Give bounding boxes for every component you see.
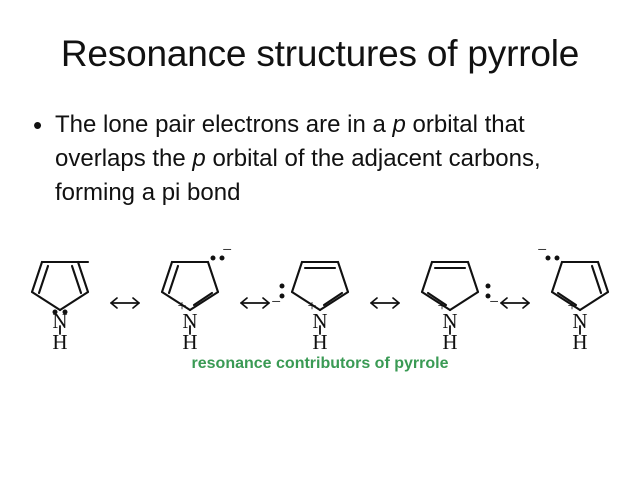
page-title: Resonance structures of pyrrole xyxy=(0,33,640,75)
atom-label-hydrogen-2: H xyxy=(182,330,197,354)
resonance-scheme: N H xyxy=(0,248,640,358)
pyrrole-ring-diagram-3: − + N H xyxy=(272,248,368,358)
resonance-arrow-3 xyxy=(368,248,402,358)
double-headed-arrow-icon-1 xyxy=(108,293,142,313)
structure-carbanion-right: − + N H xyxy=(402,248,498,358)
bullet-item: • The lone pair electrons are in a p orb… xyxy=(33,108,603,210)
resonance-arrow-1 xyxy=(108,248,142,358)
bullet-marker-icon: • xyxy=(33,108,55,142)
atom-label-hydrogen-1: H xyxy=(52,330,67,354)
structure-carbanion-left: − + N H xyxy=(272,248,368,358)
bullet-text-italic-p-1: p xyxy=(393,111,406,138)
pyrrole-ring-diagram-2: − + N H xyxy=(142,248,238,358)
charge-negative-5: − xyxy=(537,248,547,259)
pyrrole-ring-diagram-5: − + N H xyxy=(532,248,628,358)
resonance-arrow-2 xyxy=(238,248,272,358)
structure-carbanion-upper-right: − + N H xyxy=(142,248,238,358)
resonance-arrow-4 xyxy=(498,248,532,358)
bullet-text-part1: The lone pair electrons are in a xyxy=(55,111,393,138)
double-headed-arrow-icon-2 xyxy=(238,293,272,313)
atom-label-hydrogen-5: H xyxy=(572,330,587,354)
pyrrole-ring-diagram-4: − + N H xyxy=(402,248,498,358)
bullet-item-text: The lone pair electrons are in a p orbit… xyxy=(55,108,575,210)
bullet-text-italic-p-2: p xyxy=(192,145,205,172)
atom-label-hydrogen-3: H xyxy=(312,330,327,354)
structure-neutral-pyrrole: N H xyxy=(12,248,108,358)
charge-negative-2: − xyxy=(222,248,232,259)
atom-label-hydrogen-4: H xyxy=(442,330,457,354)
double-headed-arrow-icon-3 xyxy=(368,293,402,313)
body-placeholder: • The lone pair electrons are in a p orb… xyxy=(33,108,603,210)
double-headed-arrow-icon-4 xyxy=(498,293,532,313)
charge-negative-3: − xyxy=(272,292,281,311)
lone-pair-carbanion-5 xyxy=(546,256,560,261)
charge-negative-4: − xyxy=(489,292,498,311)
structure-carbanion-upper-left: − + N H xyxy=(532,248,628,358)
slide-canvas: Resonance structures of pyrrole • The lo… xyxy=(0,0,640,480)
scheme-caption: resonance contributors of pyrrole xyxy=(0,355,640,373)
pyrrole-ring-diagram-1: N H xyxy=(12,248,108,358)
